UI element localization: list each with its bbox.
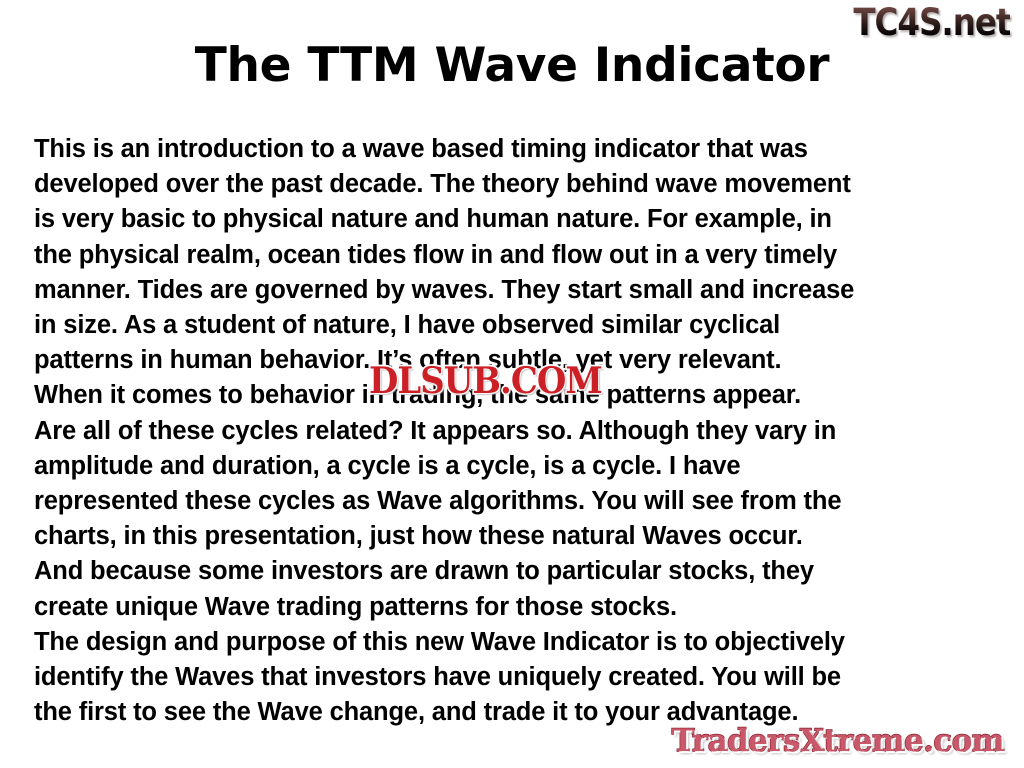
body-line: developed over the past decade. The theo… [34, 167, 996, 202]
purpose-paragraph: The design and purpose of this new Wave … [34, 625, 996, 731]
body-line: in size. As a student of nature, I have … [34, 308, 996, 343]
brand-logo-tradersxtreme: TradersXtreme.com [672, 722, 1004, 760]
page-title: The TTM Wave Indicator [0, 38, 1024, 94]
body-line: represented these cycles as Wave algorit… [34, 484, 996, 519]
body-line: the physical realm, ocean tides flow in … [34, 238, 996, 273]
slide-body-text: This is an introduction to a wave based … [34, 132, 996, 730]
body-line: create unique Wave trading patterns for … [34, 590, 996, 625]
body-line: This is an introduction to a wave based … [34, 132, 996, 167]
body-line: manner. Tides are governed by waves. The… [34, 273, 996, 308]
body-line: charts, in this presentation, just how t… [34, 519, 996, 554]
body-line: And because some investors are drawn to … [34, 554, 996, 589]
body-line: is very basic to physical nature and hum… [34, 202, 996, 237]
body-line: Are all of these cycles related? It appe… [34, 414, 996, 449]
body-line: identify the Waves that investors have u… [34, 660, 996, 695]
watermark-dlsub: DLSUB.COM [369, 362, 602, 400]
body-line: The design and purpose of this new Wave … [34, 625, 996, 660]
body-line: amplitude and duration, a cycle is a cyc… [34, 449, 996, 484]
